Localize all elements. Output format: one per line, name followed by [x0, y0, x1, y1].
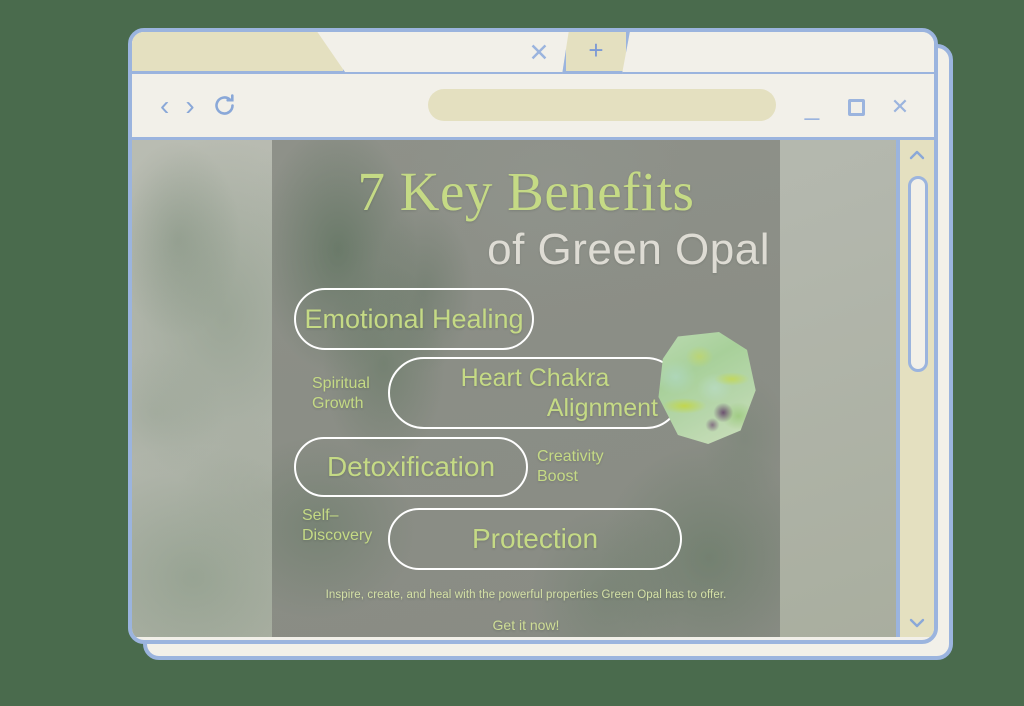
benefit-label-self-discovery: Self– Discovery [302, 506, 372, 546]
heart-chakra-line-2: Alignment [404, 393, 666, 424]
page-canvas: 7 Key Benefits of Green Opal Emotional H… [132, 140, 896, 637]
self-discovery-line-2: Discovery [302, 526, 372, 546]
reload-icon[interactable] [211, 92, 238, 119]
address-input[interactable] [428, 89, 776, 121]
browser-toolbar: ‹ › _ ✕ [132, 74, 934, 140]
benefit-pill-emotional-healing[interactable]: Emotional Healing [294, 288, 534, 350]
creativity-boost-line-1: Creativity [537, 447, 604, 467]
spiritual-growth-line-1: Spiritual [312, 374, 370, 394]
new-tab-button[interactable]: + [562, 31, 630, 75]
heart-chakra-line-1: Heart Chakra [404, 363, 666, 394]
self-discovery-line-1: Self– [302, 506, 372, 526]
tab-close-icon[interactable]: ✕ [522, 38, 556, 68]
green-opal-stone-image [652, 332, 760, 444]
page-title: 7 Key Benefits [272, 164, 780, 219]
tab-active[interactable] [131, 31, 347, 75]
benefit-label-creativity-boost: Creativity Boost [537, 447, 604, 487]
poster-graphic: 7 Key Benefits of Green Opal Emotional H… [272, 140, 780, 637]
spiritual-growth-line-2: Growth [312, 394, 370, 414]
benefit-pill-heart-chakra-alignment[interactable]: Heart Chakra Alignment [388, 357, 682, 429]
benefit-pill-detoxification[interactable]: Detoxification [294, 437, 528, 497]
maximize-square [848, 99, 865, 116]
poster-footer-text: Inspire, create, and heal with the power… [272, 589, 780, 601]
vertical-scrollbar[interactable] [896, 140, 934, 637]
forward-icon[interactable]: › [185, 92, 194, 120]
minimize-icon[interactable]: _ [800, 95, 824, 119]
scrollbar-thumb[interactable] [908, 176, 928, 372]
benefit-label-spiritual-growth: Spiritual Growth [312, 374, 370, 414]
scroll-down-icon[interactable] [900, 609, 934, 637]
browser-viewport: 7 Key Benefits of Green Opal Emotional H… [132, 140, 934, 637]
benefit-pill-protection[interactable]: Protection [388, 508, 682, 570]
page-subtitle: of Green Opal [272, 228, 780, 272]
scroll-up-icon[interactable] [900, 140, 934, 168]
maximize-icon[interactable] [844, 95, 868, 119]
navigation-controls: ‹ › [160, 92, 238, 120]
poster-cta-link[interactable]: Get it now! [272, 617, 780, 633]
close-icon[interactable]: ✕ [888, 95, 912, 119]
browser-window: ✕ + ‹ › _ ✕ [128, 28, 938, 644]
plus-icon: + [588, 37, 603, 63]
poster-content: 7 Key Benefits of Green Opal Emotional H… [272, 140, 780, 637]
scrollbar-track[interactable] [900, 168, 934, 609]
tab-strip: ✕ + [132, 32, 934, 74]
back-icon[interactable]: ‹ [160, 92, 169, 120]
creativity-boost-line-2: Boost [537, 467, 604, 487]
window-controls: _ ✕ [800, 74, 912, 140]
